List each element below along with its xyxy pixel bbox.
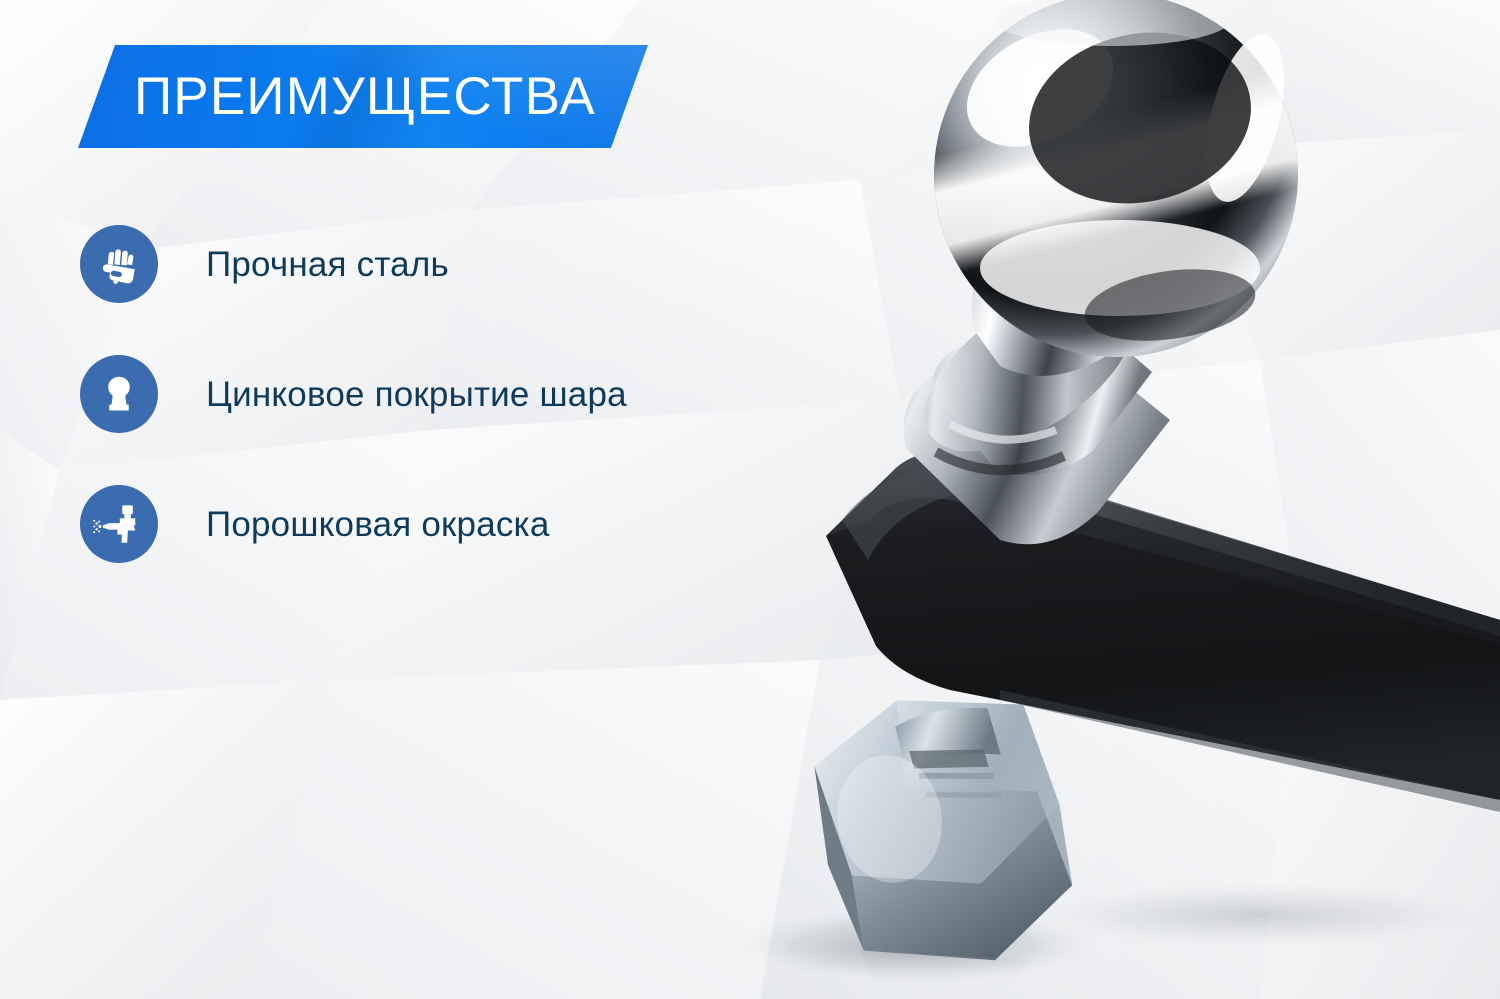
fist-icon <box>80 225 158 303</box>
infographic-slide: ПРЕИМУЩЕСТВА Прочная сталь <box>0 0 1500 999</box>
page-title: ПРЕИМУЩЕСТВА <box>78 45 648 148</box>
spray-gun-icon <box>80 485 158 563</box>
list-item: Цинковое покрытие шара <box>80 355 840 433</box>
list-item-label: Цинковое покрытие шара <box>206 377 627 412</box>
advantages-list: Прочная сталь Цинковое покрытие шара <box>80 225 840 615</box>
list-item: Прочная сталь <box>80 225 840 303</box>
list-item-label: Порошковая окраска <box>206 507 550 542</box>
section-banner: ПРЕИМУЩЕСТВА <box>78 45 648 148</box>
list-item-label: Прочная сталь <box>206 247 449 282</box>
list-item: Порошковая окраска <box>80 485 840 563</box>
keyhole-icon <box>80 355 158 433</box>
